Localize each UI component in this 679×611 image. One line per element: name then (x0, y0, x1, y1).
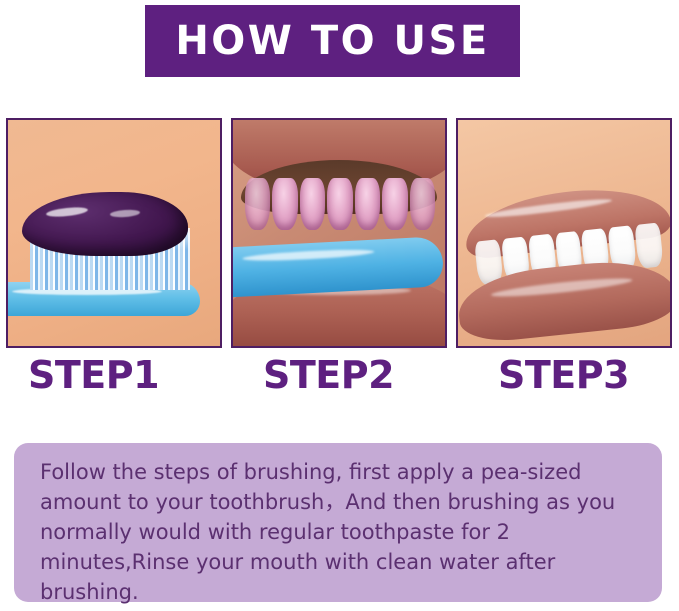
step-column-2: STEP2 (231, 118, 447, 410)
step-column-1: STEP1 (6, 118, 222, 410)
page-title: HOW TO USE (175, 21, 489, 61)
white-smile-result-photo (456, 118, 672, 348)
step-column-3: STEP3 (456, 118, 672, 410)
step-label-3: STEP3 (456, 356, 672, 394)
stained-teeth-row-shape (245, 178, 435, 230)
brushing-stained-teeth-photo (231, 118, 447, 348)
instruction-text: Follow the steps of brushing, first appl… (40, 457, 636, 607)
step-label-1: STEP1 (6, 356, 222, 394)
step-label-2: STEP2 (231, 356, 447, 394)
steps-row: STEP1 STEP2 STEP3 (0, 118, 679, 410)
instruction-box: Follow the steps of brushing, first appl… (14, 443, 662, 602)
toothbrush-with-purple-toothpaste-photo (6, 118, 222, 348)
purple-toothpaste-blob-shape (22, 192, 188, 256)
header-banner: HOW TO USE (145, 5, 520, 77)
